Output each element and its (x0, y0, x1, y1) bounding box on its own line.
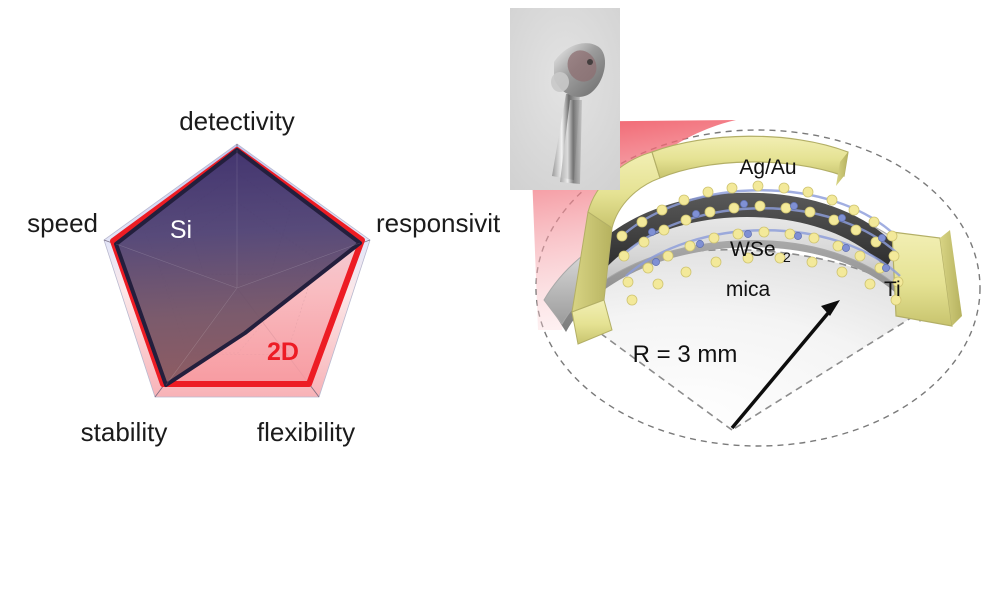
radar-series-label-si: Si (170, 216, 192, 244)
radar-axis-label-detectivity: detectivity (179, 106, 295, 136)
device-schematic-panel: Ag/Au WSe 2 Ti mica R = 3 mm (500, 0, 1000, 589)
bent-device-photo-inset (510, 8, 620, 190)
device-label-ag-au: Ag/Au (739, 156, 796, 179)
radar-axis-label-flexibility: flexibility (257, 417, 355, 447)
device-label-wse2-text: WSe (730, 238, 776, 261)
radar-series-label-2d: 2D (267, 338, 299, 366)
radar-chart-panel: detectivity responsivity flexibility sta… (0, 0, 500, 589)
radar-axis-label-stability: stability (81, 417, 168, 447)
device-schematic-svg: Ag/Au WSe 2 Ti mica R = 3 mm (500, 0, 1000, 589)
device-label-radius: R = 3 mm (633, 341, 738, 368)
radar-axis-label-responsivity: responsivity (376, 208, 500, 238)
device-label-ti: Ti (884, 278, 901, 301)
radar-axis-label-speed: speed (27, 208, 98, 238)
device-label-wse2-subscript: 2 (783, 249, 791, 265)
radar-chart-svg: detectivity responsivity flexibility sta… (0, 0, 500, 589)
device-label-mica: mica (726, 278, 771, 301)
figure-root: detectivity responsivity flexibility sta… (0, 0, 1000, 589)
